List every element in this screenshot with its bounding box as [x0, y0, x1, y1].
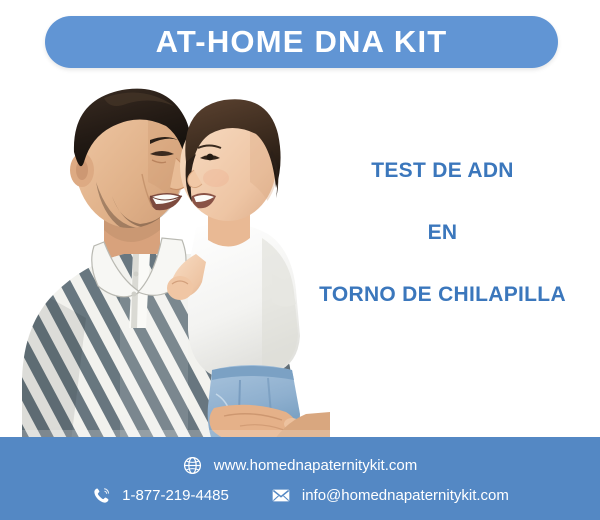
headline-line-1: TEST DE ADN: [290, 160, 595, 181]
page-title: AT-HOME DNA KIT: [156, 24, 448, 60]
header-banner: AT-HOME DNA KIT: [45, 16, 558, 68]
father-and-child-photo: [0, 78, 330, 450]
envelope-icon: [271, 485, 291, 505]
footer-contact-row: 1-877-219-4485 info@homednapaternitykit.…: [0, 485, 600, 505]
website-text: www.homednapaternitykit.com: [214, 457, 417, 474]
email-item[interactable]: info@homednapaternitykit.com: [271, 485, 509, 505]
poster-canvas: AT-HOME DNA KIT: [0, 0, 600, 520]
headline-line-2: EN: [290, 222, 595, 243]
email-text: info@homednapaternitykit.com: [302, 487, 509, 504]
phone-icon: [91, 485, 111, 505]
phone-item[interactable]: 1-877-219-4485: [91, 485, 229, 505]
globe-icon: [183, 455, 203, 475]
headline-line-3: TORNO DE CHILAPILLA: [290, 284, 595, 305]
footer-website-row: www.homednapaternitykit.com: [0, 455, 600, 475]
headline-block: TEST DE ADN EN TORNO DE CHILAPILLA: [290, 160, 595, 305]
footer-contact-bar: www.homednapaternitykit.com 1-877-219-44…: [0, 437, 600, 520]
website-item[interactable]: www.homednapaternitykit.com: [183, 455, 417, 475]
phone-text: 1-877-219-4485: [122, 487, 229, 504]
